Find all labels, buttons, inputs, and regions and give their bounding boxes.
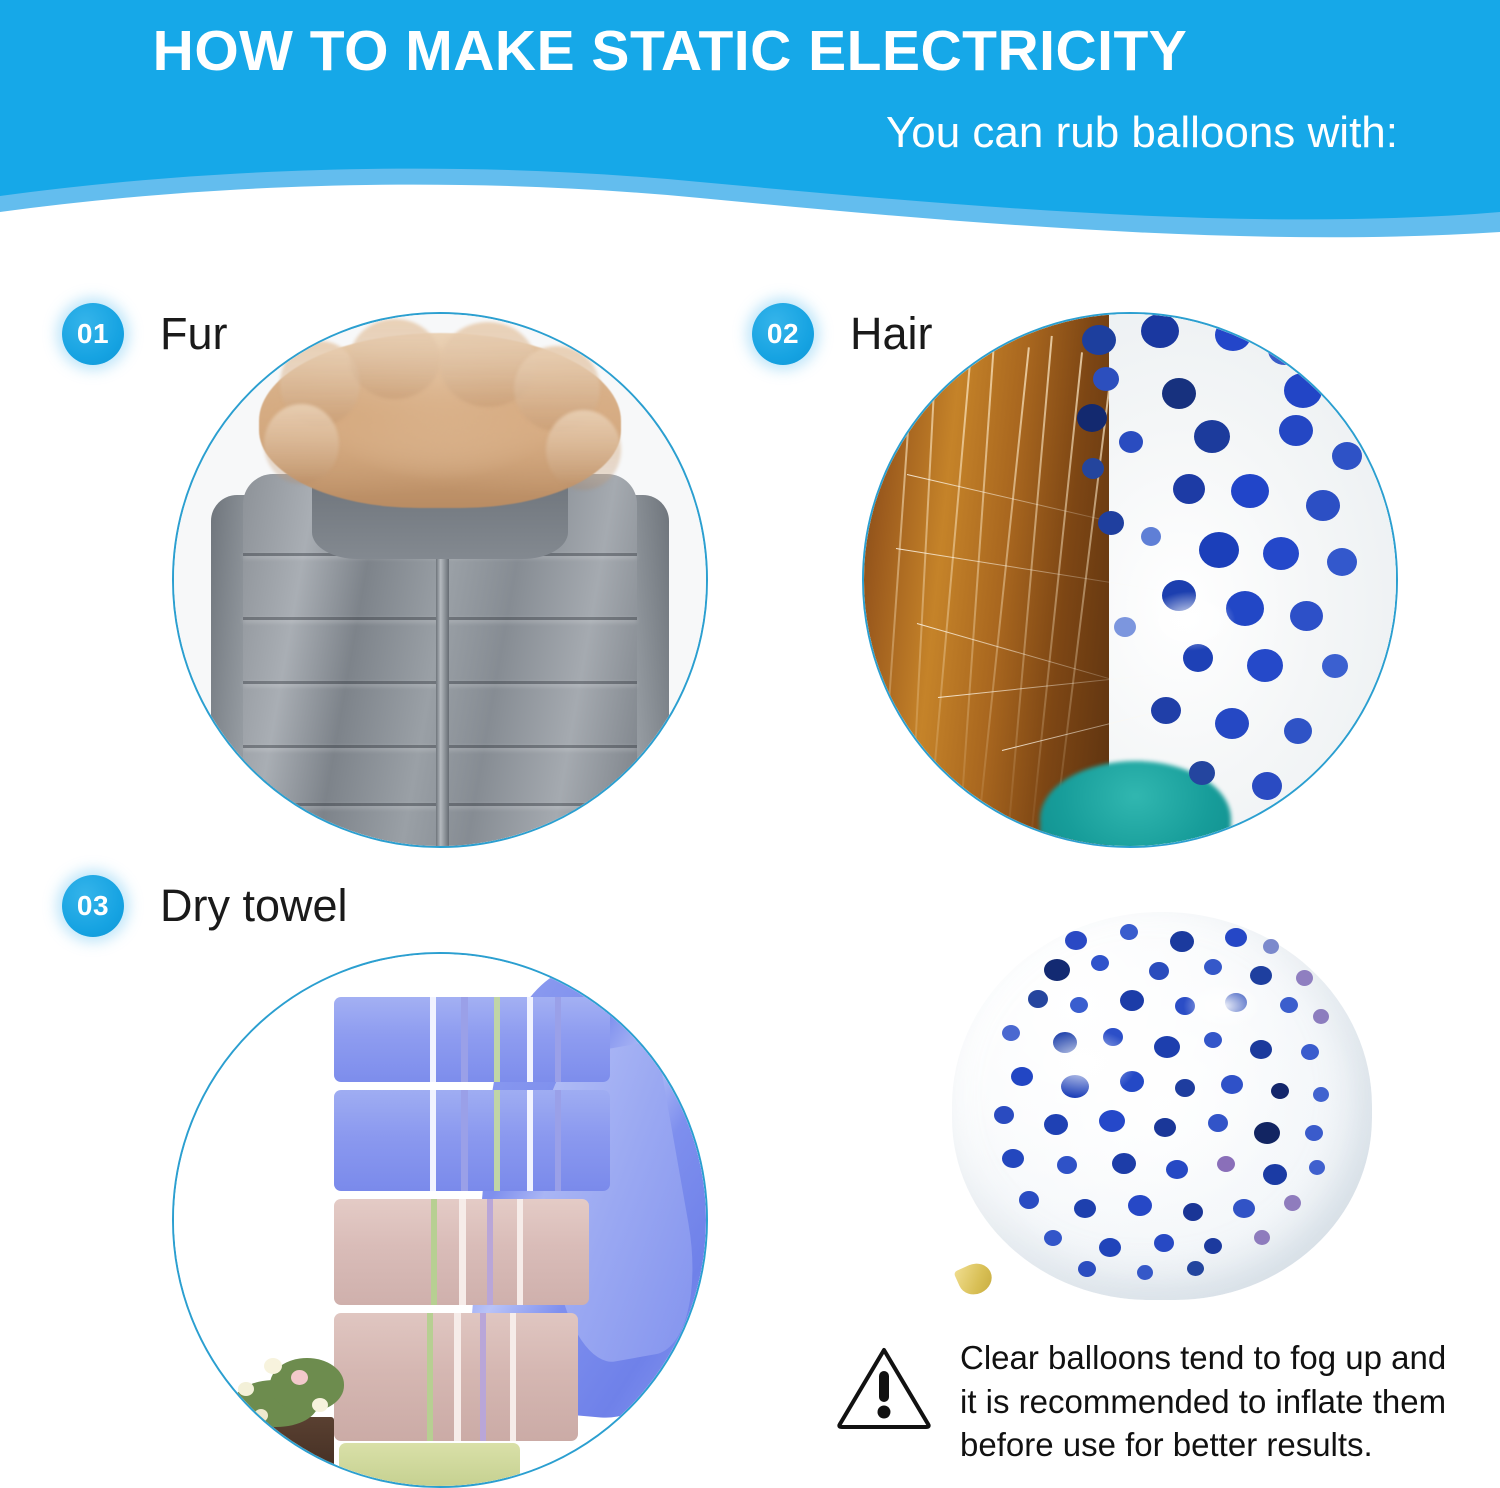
confetti-dot <box>1309 1160 1325 1175</box>
towel-stripe <box>427 1313 433 1441</box>
confetti-dot <box>1231 474 1269 508</box>
hair-mass <box>862 314 1109 846</box>
confetti-dot <box>994 1106 1014 1124</box>
confetti-dot <box>1284 1195 1301 1211</box>
towel-folded-pink <box>334 1199 589 1305</box>
towel-stripe <box>555 997 561 1082</box>
confetti-dot <box>1070 997 1088 1013</box>
badge-number-03: 03 <box>62 875 124 937</box>
confetti-dot <box>1280 997 1298 1013</box>
item-label-text-dry-towel: Dry towel <box>160 880 348 932</box>
confetti-dot <box>1221 1075 1243 1094</box>
jacket-illustration <box>174 314 706 846</box>
confetti-dot <box>1141 314 1179 348</box>
confetti-dot <box>1002 1025 1020 1041</box>
towel-stripe <box>487 1199 493 1305</box>
confetti-dot <box>1217 1156 1235 1172</box>
towel-stripe <box>430 997 436 1082</box>
confetti-dot <box>1271 1083 1289 1099</box>
towel-folded-blue <box>334 1090 611 1191</box>
badge-number-02: 02 <box>752 303 814 365</box>
badge-number-01: 01 <box>62 303 124 365</box>
towel-stripe <box>555 1090 561 1191</box>
confetti-dot <box>1099 1238 1121 1257</box>
towel-stripe <box>430 1090 436 1191</box>
confetti-dot <box>1173 474 1205 504</box>
confetti-dot <box>1313 1087 1329 1102</box>
towel-stripe <box>494 1090 500 1191</box>
towel-stripe <box>480 1313 486 1441</box>
confetti-dot <box>1313 1009 1329 1024</box>
confetti-dot <box>1082 458 1104 479</box>
item-label-dry-towel: 03 Dry towel <box>62 875 348 937</box>
confetti-dot <box>1166 1160 1188 1179</box>
confetti-dot <box>1247 649 1283 682</box>
confetti-dot <box>1175 1079 1195 1097</box>
confetti-dot <box>1225 928 1247 947</box>
confetti-dot <box>1120 924 1138 940</box>
towel-stripe <box>454 1313 461 1441</box>
confetti-dot <box>1306 490 1340 521</box>
confetti-dot <box>1149 962 1169 980</box>
confetti-dot <box>1093 367 1119 391</box>
towel-folded-blue <box>334 997 611 1082</box>
towel-stripe <box>459 1199 466 1305</box>
confetti-dot <box>1199 532 1239 568</box>
confetti-dot <box>1137 1265 1153 1280</box>
confetti-dot <box>1044 1114 1068 1135</box>
confetti-dot <box>1019 1191 1039 1209</box>
towel-stripe <box>517 1199 523 1305</box>
towel-stripe <box>527 1090 533 1191</box>
header-banner: HOW TO MAKE STATIC ELECTRICITY You can r… <box>0 0 1500 250</box>
flower-bloom <box>238 1382 254 1396</box>
confetti-dot <box>1327 548 1357 576</box>
confetti-dot <box>1263 939 1279 954</box>
balloon-highlight <box>1028 1028 1138 1098</box>
photo-hair-balloon <box>862 312 1398 848</box>
warning-triangle-icon <box>836 1344 932 1430</box>
page-subtitle: You can rub balloons with: <box>0 110 1398 156</box>
confetti-dot <box>1028 990 1048 1008</box>
confetti-dot <box>1322 654 1348 678</box>
confetti-dot <box>1252 772 1282 800</box>
page-title: HOW TO MAKE STATIC ELECTRICITY <box>0 22 1340 82</box>
balloon-highlight <box>1183 982 1263 1030</box>
confetti-dot <box>1332 442 1362 470</box>
flower-bloom <box>254 1409 268 1422</box>
hair-illustration <box>864 314 1396 846</box>
flower-bloom <box>291 1370 308 1385</box>
warning-note: Clear balloons tend to fog up and it is … <box>836 1336 1456 1467</box>
confetti-dot <box>1078 1261 1096 1277</box>
confetti-dot <box>1074 1199 1096 1218</box>
fur-tuft <box>350 319 440 399</box>
confetti-dot <box>1044 959 1070 981</box>
towels-illustration <box>174 954 706 1486</box>
confetti-dot <box>1254 1122 1280 1144</box>
confetti-dot <box>1170 931 1194 952</box>
confetti-dot <box>1098 511 1124 535</box>
balloon-neck <box>953 1258 996 1299</box>
confetti-dot <box>1284 373 1322 408</box>
confetti-dot <box>1204 1238 1222 1254</box>
confetti-dot <box>1002 1149 1024 1168</box>
confetti-balloon-image <box>952 912 1372 1300</box>
confetti-dot <box>1305 1125 1323 1141</box>
confetti-dot <box>1044 1230 1062 1246</box>
balloon-highlight <box>1146 591 1236 651</box>
photo-dry-towels <box>172 952 708 1488</box>
fur-tuft <box>546 410 620 490</box>
confetti-dot <box>1194 420 1230 453</box>
confetti-dot <box>1183 1203 1203 1221</box>
confetti-dot <box>1099 1110 1125 1132</box>
confetti-dot <box>1233 1199 1255 1218</box>
confetti-dot <box>1254 1230 1270 1245</box>
balloon-body <box>952 912 1372 1300</box>
confetti-dot <box>1154 1118 1176 1137</box>
confetti-dot <box>1208 1114 1228 1132</box>
confetti-dot <box>1154 1036 1180 1058</box>
confetti-dot <box>1057 1156 1077 1174</box>
towel-stripe <box>510 1313 516 1441</box>
confetti-dot <box>1162 378 1196 409</box>
towel-stripe <box>461 1090 468 1191</box>
flower-pot <box>243 1417 333 1486</box>
confetti-dot <box>1082 325 1116 355</box>
confetti-dot <box>1250 966 1272 985</box>
confetti-dot <box>1091 955 1109 971</box>
confetti-dot <box>1204 1032 1222 1048</box>
confetti-dot <box>1154 1234 1174 1252</box>
towel-stripe <box>494 997 500 1082</box>
towel-folded-pink <box>334 1313 579 1441</box>
confetti-dot <box>1141 527 1161 546</box>
confetti-dot <box>1204 959 1222 975</box>
flower-bloom <box>312 1398 328 1412</box>
confetti-dot <box>1290 601 1323 631</box>
confetti-dot <box>1112 1153 1136 1174</box>
confetti-dot <box>1215 708 1249 739</box>
warning-note-text: Clear balloons tend to fog up and it is … <box>960 1336 1456 1467</box>
confetti-dot <box>1279 415 1313 446</box>
confetti-dot <box>1065 931 1087 950</box>
photo-fur-jacket <box>172 312 708 848</box>
confetti-dot <box>1187 1261 1204 1276</box>
towel-stripe <box>527 997 533 1082</box>
confetti-dot <box>1128 1195 1152 1216</box>
confetti-dot <box>1120 990 1144 1011</box>
towel-stripe <box>431 1199 437 1305</box>
confetti-dot <box>1263 1164 1287 1185</box>
confetti-dot <box>1296 970 1313 986</box>
confetti-dot <box>1189 761 1215 785</box>
confetti-dot <box>1250 1040 1272 1059</box>
towel-stripe <box>461 997 468 1082</box>
towel-folded-green-edge <box>339 1443 520 1486</box>
confetti-dot <box>1301 1044 1319 1060</box>
fur-tuft <box>264 404 338 484</box>
